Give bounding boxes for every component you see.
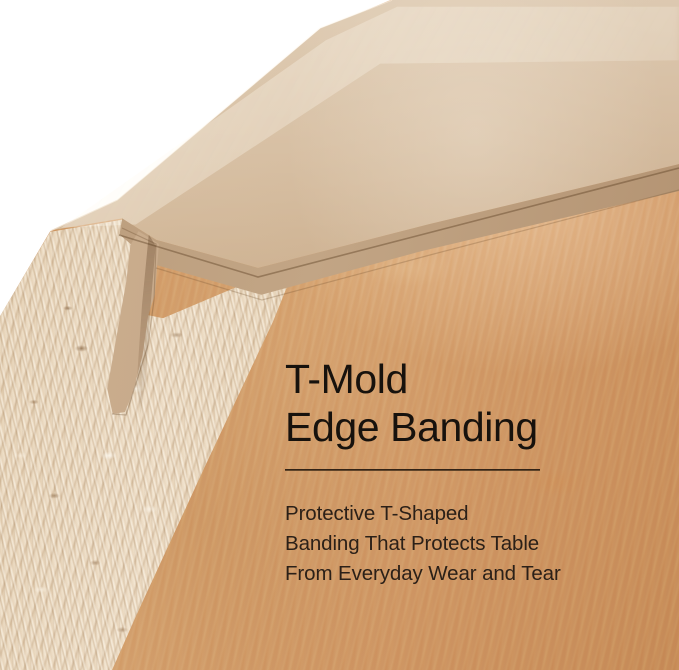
subcopy-line-3: From Everyday Wear and Tear — [285, 559, 645, 589]
marketing-text-block: T-Mold Edge Banding Protective T-Shaped … — [285, 355, 645, 589]
product-photo-scene: T-Mold Edge Banding Protective T-Shaped … — [0, 0, 679, 670]
headline-line-2: Edge Banding — [285, 403, 645, 451]
subcopy-line-1: Protective T-Shaped — [285, 499, 645, 529]
subcopy-line-2: Banding That Protects Table — [285, 529, 645, 559]
headline-line-1: T-Mold — [285, 355, 645, 403]
headline-divider — [285, 469, 540, 471]
